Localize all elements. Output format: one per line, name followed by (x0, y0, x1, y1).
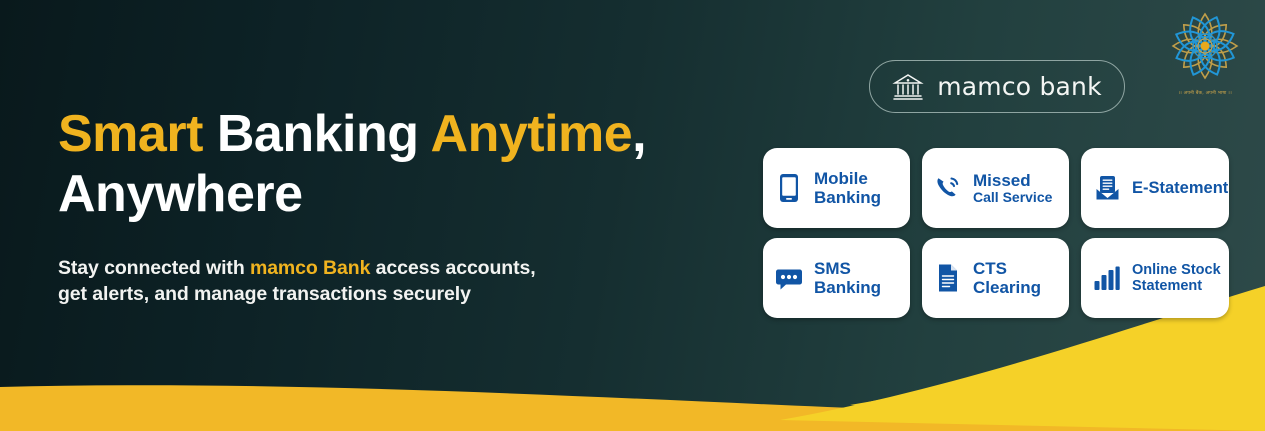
service-line-1: SMS (814, 259, 881, 278)
service-card-missed-call-service[interactable]: Missed Call Service (922, 148, 1069, 228)
promo-banner: ।। अपनी बैंक, अपनी भाषा ।। Smart Banking… (0, 0, 1265, 431)
service-card-label: E-Statement (1132, 179, 1228, 197)
headline-anytime: Anytime (431, 105, 633, 163)
service-line-2: Statement (1132, 278, 1221, 294)
service-card-e-statement[interactable]: E-Statement (1081, 148, 1229, 228)
service-card-label: SMS Banking (814, 259, 881, 297)
service-card-online-stock-statement[interactable]: Online Stock Statement (1081, 238, 1229, 318)
subline-brand: mamco Bank (250, 257, 370, 279)
service-card-label: Missed Call Service (973, 171, 1052, 206)
subline-tail: access accounts, (370, 257, 535, 279)
subline-lead: Stay connected with (58, 257, 250, 279)
service-line-2: Banking (814, 188, 881, 207)
document-envelope-icon (1092, 174, 1122, 202)
service-card-grid: Mobile Banking Missed Call Service (763, 148, 1229, 318)
hero-copy: Smart Banking Anytime, Anywhere Stay con… (58, 104, 718, 307)
headline-comma: , (632, 105, 646, 163)
logo-tagline: ।। अपनी बैंक, अपनी भाषा ।। (1161, 90, 1249, 96)
bar-chart-icon (1092, 265, 1122, 291)
brand-logo: ।। अपनी बैंक, अपनी भाषा ।। (1161, 6, 1249, 96)
headline-smart: Smart (58, 105, 203, 163)
service-card-mobile-banking[interactable]: Mobile Banking (763, 148, 910, 228)
bank-building-icon (892, 72, 924, 102)
service-line-1: Missed (973, 171, 1052, 190)
headline-anywhere: Anywhere (58, 165, 303, 223)
service-line-1: Mobile (814, 169, 881, 188)
service-card-label: Online Stock Statement (1132, 262, 1221, 294)
service-line-1: Online Stock (1132, 262, 1221, 278)
phone-ring-icon (933, 174, 963, 202)
wave-amber (0, 385, 1265, 431)
service-line-1: CTS (973, 259, 1041, 278)
service-card-sms-banking[interactable]: SMS Banking (763, 238, 910, 318)
bank-badge-label: mamco bank (937, 72, 1102, 101)
service-card-label: Mobile Banking (814, 169, 881, 207)
file-lines-icon (933, 263, 963, 293)
service-line-1: E-Statement (1132, 179, 1228, 197)
subline-line2: get alerts, and manage transactions secu… (58, 283, 471, 305)
lotus-mandala-icon (1161, 6, 1249, 84)
bank-badge[interactable]: mamco bank (869, 60, 1125, 113)
page-title: Smart Banking Anytime, Anywhere (58, 104, 718, 224)
smartphone-icon (774, 173, 804, 203)
service-line-2: Clearing (973, 278, 1041, 297)
hero-subtitle: Stay connected with mamco Bank access ac… (58, 255, 718, 307)
service-line-2: Banking (814, 278, 881, 297)
service-line-2: Call Service (973, 190, 1052, 206)
service-card-cts-clearing[interactable]: CTS Clearing (922, 238, 1069, 318)
chat-bubble-icon (774, 266, 804, 291)
headline-banking: Banking (203, 105, 431, 163)
service-card-label: CTS Clearing (973, 259, 1041, 297)
